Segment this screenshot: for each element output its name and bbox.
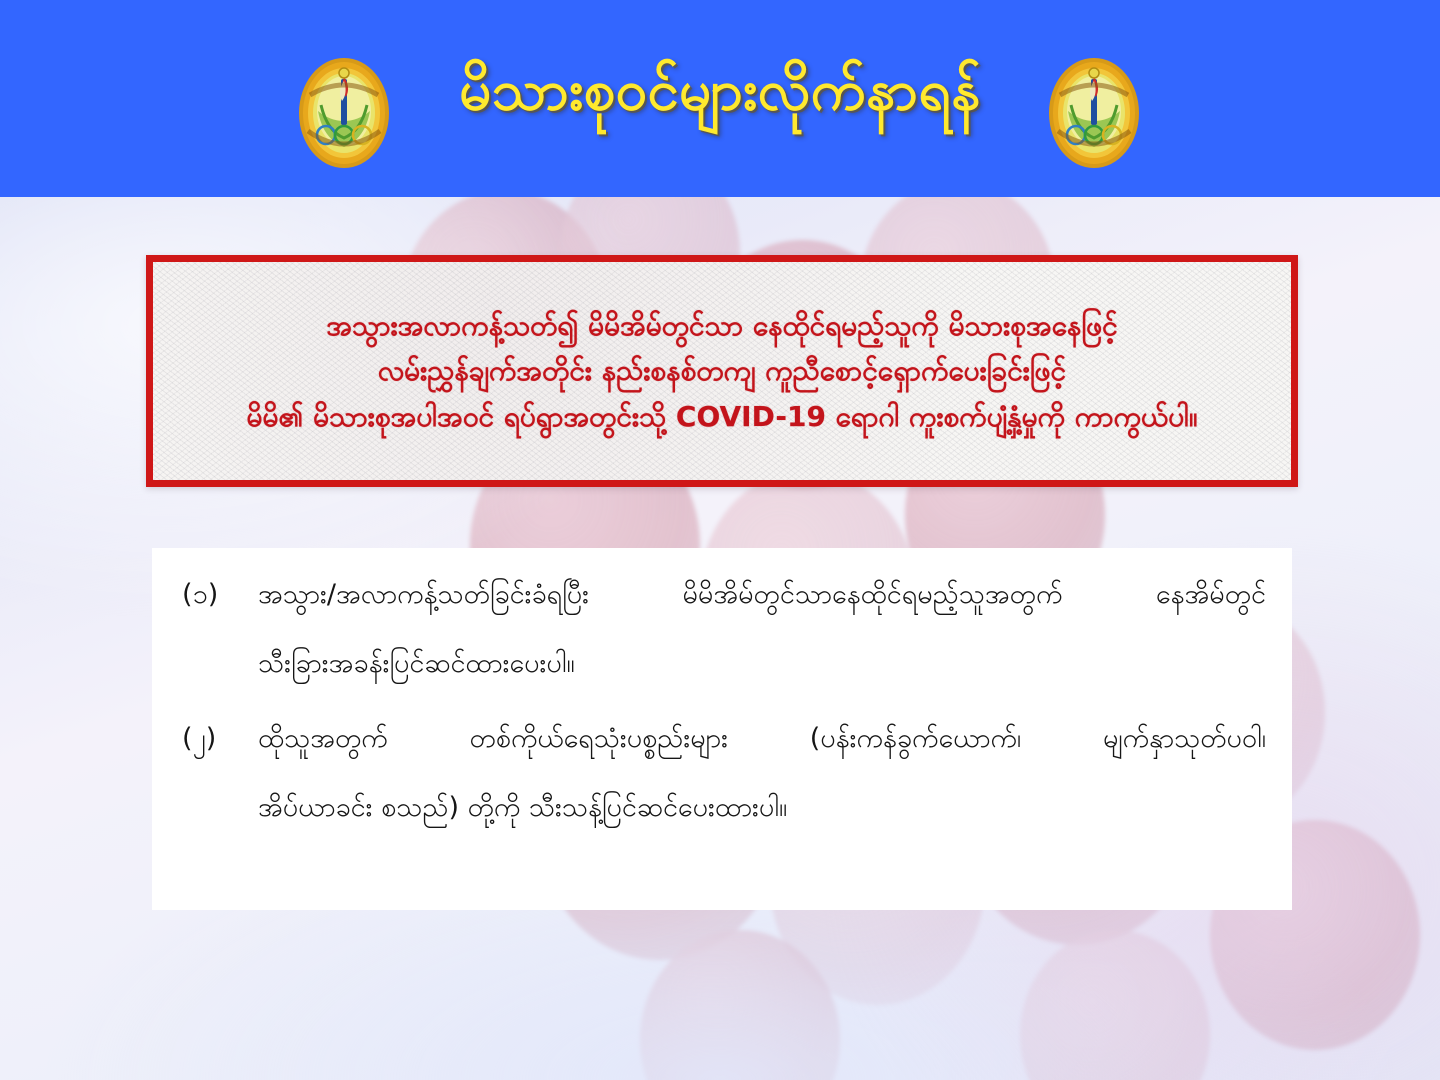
notice-line: အသွားအလာကန့်သတ်၍ မိမိအိမ်တွင်သာ နေထိုင်ရ… (326, 303, 1117, 348)
notice-line: မိမိ၏ မိသားစုအပါအဝင် ရပ်ရွာအတွင်းသို့ CO… (247, 394, 1198, 439)
ministry-of-health-and-sports-emblem-right-icon (1046, 55, 1142, 171)
list-item-marker: (၂) (178, 718, 258, 759)
notice-box: အသွားအလာကန့်သတ်၍ မိမိအိမ်တွင်သာ နေထိုင်ရ… (146, 255, 1298, 487)
list-item-marker: (၁) (178, 574, 258, 615)
list-item-line: သီးခြားအခန်းပြင်ဆင်ထားပေးပါ။ (258, 643, 1266, 684)
header-banner: မိသားစုဝင်များလိုက်နာရန် (0, 0, 1440, 197)
page-title: မိသားစုဝင်များလိုက်နာရန် (0, 56, 1440, 126)
list-item: (၁) အသွား/အလာကန့်သတ်ခြင်းခံရပြီး မိမိအိမ… (178, 574, 1266, 684)
notice-line: လမ်းညွှန်ချက်အတိုင်း နည်းစနစ်တကျ ကူညီစော… (378, 348, 1066, 393)
slide-root: မိသားစုဝင်များလိုက်နာရန် (0, 0, 1440, 1080)
list-item-body: ထိုသူအတွက် တစ်ကိုယ်ရေသုံးပစ္စည်းများ (ပန… (258, 718, 1266, 828)
list-item-line: အသွား/အလာကန့်သတ်ခြင်းခံရပြီး မိမိအိမ်တွင… (258, 574, 1266, 615)
instructions-panel: (၁) အသွား/အလာကန့်သတ်ခြင်းခံရပြီး မိမိအိမ… (152, 548, 1292, 910)
list-item-line: အိပ်ယာခင်း စသည်) တို့ကို သီးသန့်ပြင်ဆင်ပ… (258, 787, 1266, 828)
list-item-line: ထိုသူအတွက် တစ်ကိုယ်ရေသုံးပစ္စည်းများ (ပန… (258, 718, 1266, 759)
list-item: (၂) ထိုသူအတွက် တစ်ကိုယ်ရေသုံးပစ္စည်းများ… (178, 718, 1266, 828)
list-item-body: အသွား/အလာကန့်သတ်ခြင်းခံရပြီး မိမိအိမ်တွင… (258, 574, 1266, 684)
